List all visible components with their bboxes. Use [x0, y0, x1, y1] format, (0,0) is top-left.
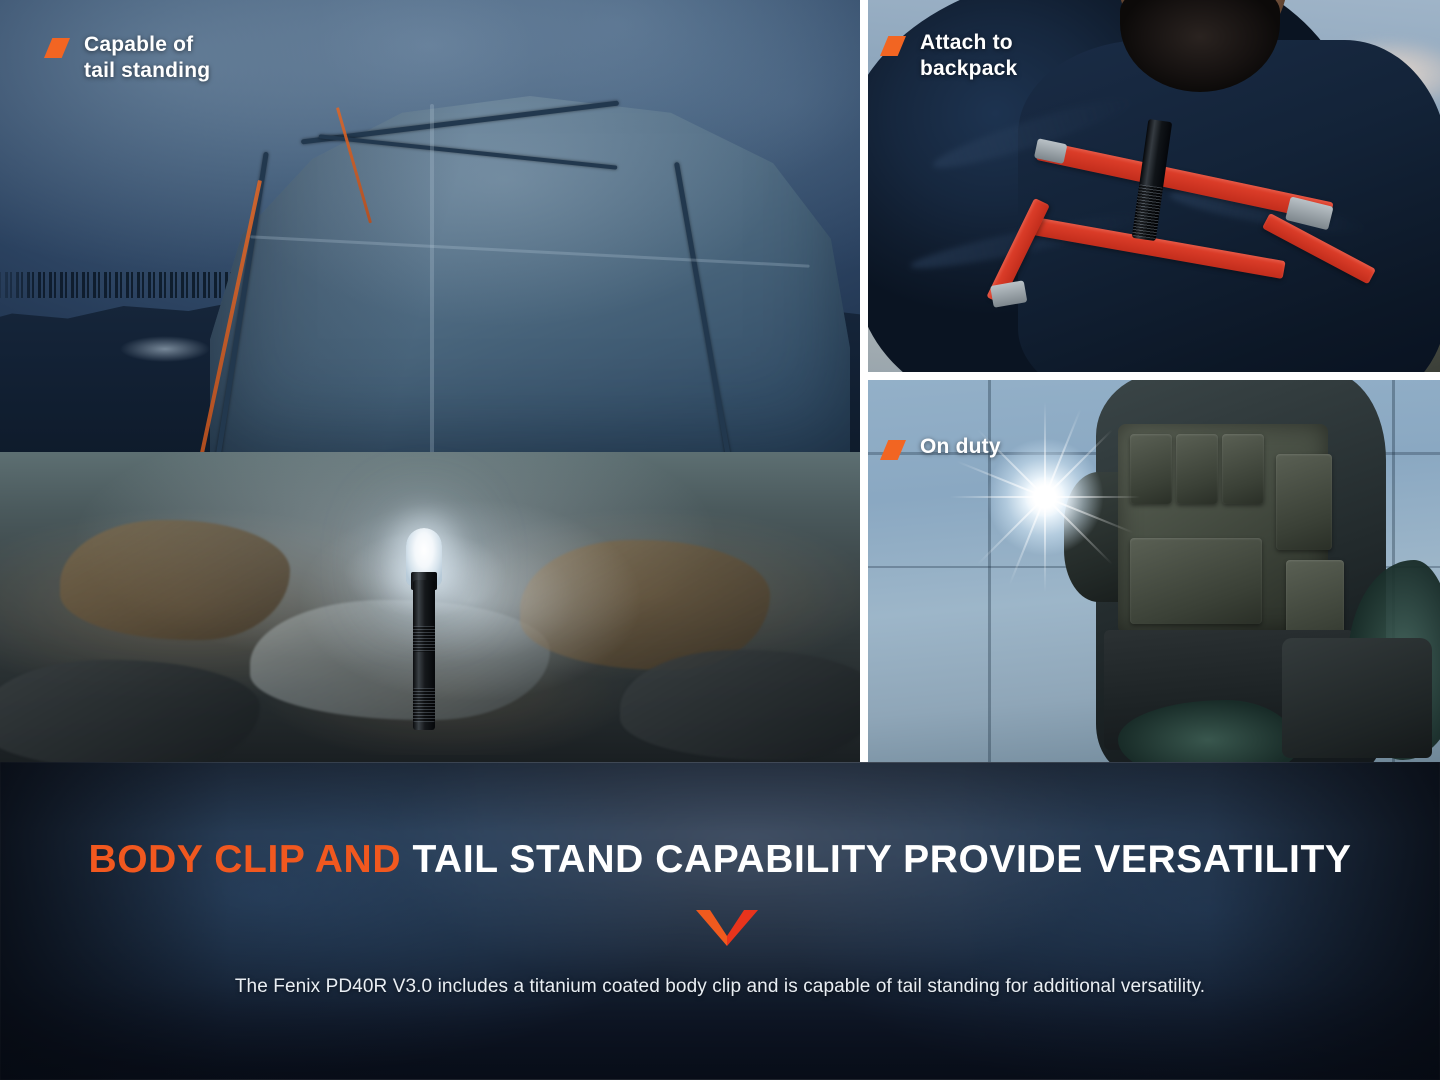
photo-grid: Capable of tail standing — [0, 0, 1440, 762]
label-on-duty: On duty — [880, 434, 1001, 460]
headline-rest — [401, 838, 412, 881]
mag-pouch — [1130, 434, 1172, 504]
flashlight-beam-flare — [1040, 492, 1050, 502]
orange-slash-icon — [880, 440, 906, 460]
panel-gap-horizontal — [860, 372, 1440, 380]
label-tail-standing: Capable of tail standing — [44, 32, 210, 83]
banner-description: The Fenix PD40R V3.0 includes a titanium… — [0, 976, 1440, 998]
snow-patch — [120, 336, 210, 362]
photo-tail-standing: Capable of tail standing — [0, 0, 860, 762]
utility-pouch — [1130, 538, 1262, 624]
label-text: Attach to backpack — [920, 30, 1017, 81]
mag-pouch — [1222, 434, 1264, 504]
flashlight-knurling — [413, 688, 435, 722]
chevron-down-icon — [696, 908, 758, 946]
light-ray — [950, 496, 1140, 498]
flashlight-tail-standing — [404, 528, 444, 728]
flashlight-knurling — [1132, 214, 1159, 239]
flashlight-knurling — [1135, 184, 1163, 217]
label-attach-backpack: Attach to backpack — [880, 30, 1017, 81]
headline-main: TAIL STAND CAPABILITY PROVIDE VERSATILIT… — [413, 838, 1352, 881]
panel-gap-vertical — [860, 0, 868, 762]
radio-pouch — [1276, 454, 1332, 550]
orange-slash-icon — [880, 36, 906, 56]
label-text: On duty — [920, 434, 1001, 460]
duty-bag — [1282, 638, 1432, 758]
tent-seam — [430, 104, 434, 504]
light-ray — [1044, 402, 1046, 592]
label-text: Capable of tail standing — [84, 32, 210, 83]
mag-pouch — [1176, 434, 1218, 504]
rock — [0, 660, 260, 762]
photo-on-duty: On duty — [868, 380, 1440, 762]
banner-headline: BODY CLIP AND TAIL STAND CAPABILITY PROV… — [0, 838, 1440, 882]
flashlight-knurling — [413, 626, 435, 652]
headline-highlight: BODY CLIP AND — [88, 838, 401, 881]
product-feature-graphic: Capable of tail standing — [0, 0, 1440, 1080]
photo-attach-backpack: Attach to backpack — [868, 0, 1440, 372]
orange-slash-icon — [44, 38, 70, 58]
